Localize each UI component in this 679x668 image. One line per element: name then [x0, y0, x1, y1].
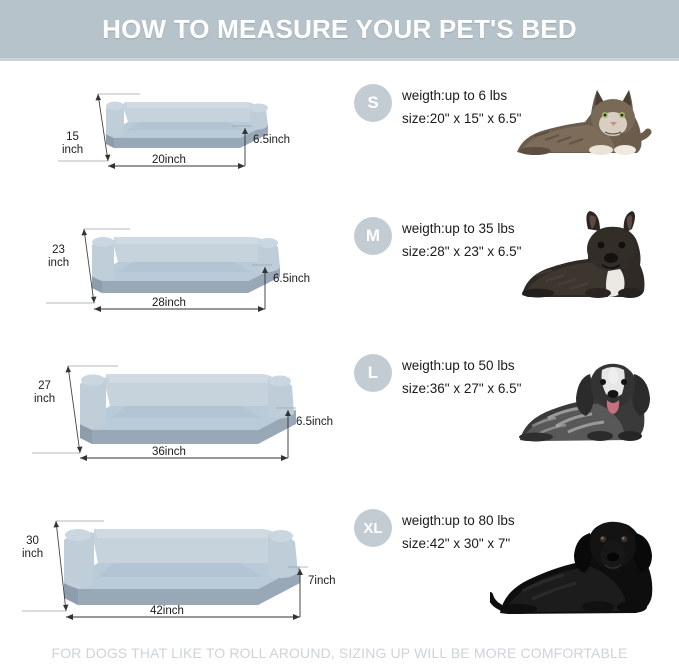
size-badge-xl: XL [354, 509, 392, 547]
bed-height-label-m: 6.5inch [273, 273, 310, 286]
bed-illustration-xl: 30 inch 42inch 7inch [0, 491, 340, 637]
size-info-m: M weigth:up to 35 lbs size:28" x 23" x 6… [340, 199, 679, 336]
dimension-lines-s [0, 66, 340, 199]
size-info-s: S weigth:up to 6 lbs size:20" x 15" x 6.… [340, 66, 679, 199]
bed-width-label-l: 36inch [152, 446, 186, 459]
bed-width-label-s: 20inch [152, 154, 186, 167]
page-title: HOW TO MEASURE YOUR PET'S BED [102, 14, 577, 45]
size-row-m: 23 inch 28inch 6.5inch M weigth:up to 35… [0, 199, 679, 336]
bed-illustration-s: 15 inch 20inch 6.5inch [0, 66, 340, 199]
weight-label-s: weigth:up to 6 lbs [402, 84, 521, 107]
footer-note: FOR DOGS THAT LIKE TO ROLL AROUND, SIZIN… [0, 637, 679, 668]
size-spec-s: weigth:up to 6 lbs size:20" x 15" x 6.5" [402, 84, 521, 130]
header-divider [0, 58, 679, 61]
size-row-xl: 30 inch 42inch 7inch XL weigth:up to 80 … [0, 491, 679, 637]
bed-height-label-s: 6.5inch [253, 134, 290, 147]
pet-bed-size-chart: HOW TO MEASURE YOUR PET'S BED [0, 0, 679, 668]
size-label-s: size:20" x 15" x 6.5" [402, 107, 521, 130]
weight-label-m: weigth:up to 35 lbs [402, 217, 521, 240]
bed-height-label-xl: 7inch [308, 575, 336, 588]
size-badge-m: M [354, 217, 392, 255]
size-spec-m: weigth:up to 35 lbs size:28" x 23" x 6.5… [402, 217, 521, 263]
size-row-s: 15 inch 20inch 6.5inch S weigth:up to 6 … [0, 66, 679, 199]
size-badge-l: L [354, 354, 392, 392]
size-badge-s: S [354, 84, 392, 122]
weight-label-l: weigth:up to 50 lbs [402, 354, 521, 377]
pet-photo-tabby-cat [505, 74, 675, 164]
size-spec-l: weigth:up to 50 lbs size:36" x 27" x 6.5… [402, 354, 521, 400]
dimension-lines-l [0, 336, 340, 491]
size-row-l: 27 inch 36inch 6.5inch L weigth:up to 50… [0, 336, 679, 491]
page-header: HOW TO MEASURE YOUR PET'S BED [0, 0, 679, 58]
bed-width-label-xl: 42inch [150, 605, 184, 618]
bed-depth-label-s: 15 inch [62, 131, 83, 156]
bed-depth-label-xl: 30 inch [22, 535, 43, 560]
pet-photo-black-labrador [490, 495, 679, 635]
footer-note-text: FOR DOGS THAT LIKE TO ROLL AROUND, SIZIN… [52, 645, 628, 661]
bed-illustration-l: 27 inch 36inch 6.5inch [0, 336, 340, 491]
pet-photo-springer-spaniel [508, 342, 678, 457]
bed-height-label-l: 6.5inch [296, 416, 333, 429]
bed-illustration-m: 23 inch 28inch 6.5inch [0, 199, 340, 336]
bed-depth-label-l: 27 inch [34, 380, 55, 405]
size-info-l: L weigth:up to 50 lbs size:36" x 27" x 6… [340, 336, 679, 491]
bed-width-label-m: 28inch [152, 297, 186, 310]
size-label-m: size:28" x 23" x 6.5" [402, 240, 521, 263]
size-label-l: size:36" x 27" x 6.5" [402, 377, 521, 400]
bed-depth-label-m: 23 inch [48, 244, 69, 269]
size-info-xl: XL weigth:up to 80 lbs size:42" x 30" x … [340, 491, 679, 637]
pet-photo-french-bulldog [512, 205, 677, 310]
